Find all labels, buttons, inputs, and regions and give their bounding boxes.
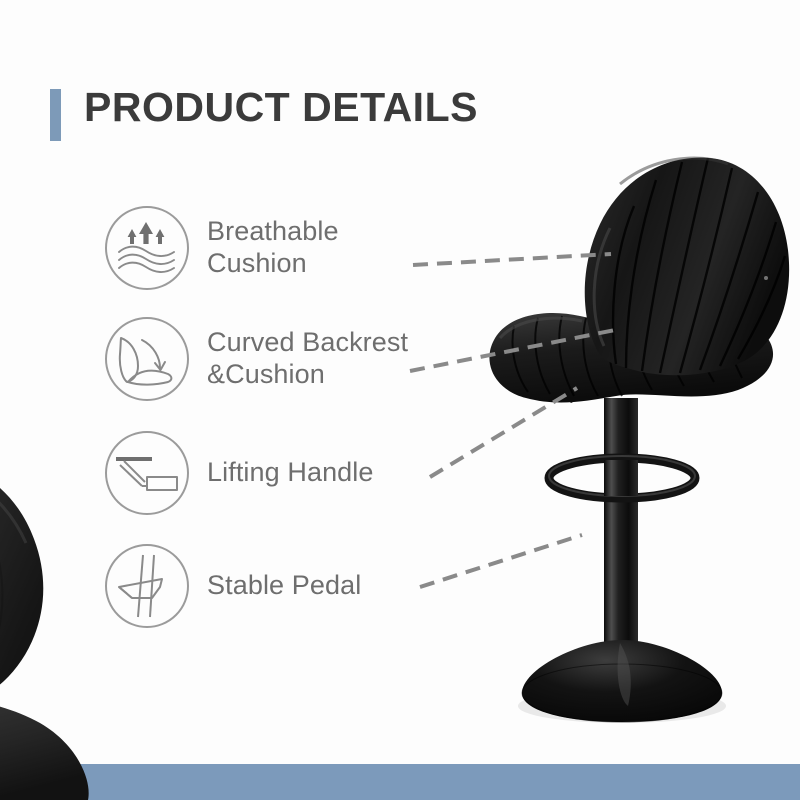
feature-label: Lifting Handle (207, 457, 374, 489)
curved-backrest-icon (105, 317, 189, 401)
feature-item-breathable-cushion: Breathable Cushion (105, 206, 339, 290)
title-accent-bar (50, 89, 61, 141)
page-title: PRODUCT DETAILS (84, 84, 478, 131)
lifting-handle-icon (105, 431, 189, 515)
stable-pedal-icon (105, 544, 189, 628)
feature-item-stable-pedal: Stable Pedal (105, 544, 361, 628)
feature-label: Stable Pedal (207, 570, 361, 602)
feature-item-lifting-handle: Lifting Handle (105, 431, 374, 515)
feature-label: Curved Backrest &Cushion (207, 327, 408, 390)
product-details-infographic: PRODUCT DETAILS (0, 0, 800, 800)
product-image-bar-stool (470, 140, 800, 740)
feature-label: Breathable Cushion (207, 216, 339, 279)
breathable-cushion-icon (105, 206, 189, 290)
feature-item-curved-backrest: Curved Backrest &Cushion (105, 317, 408, 401)
stool-shell-backrest (585, 158, 789, 376)
